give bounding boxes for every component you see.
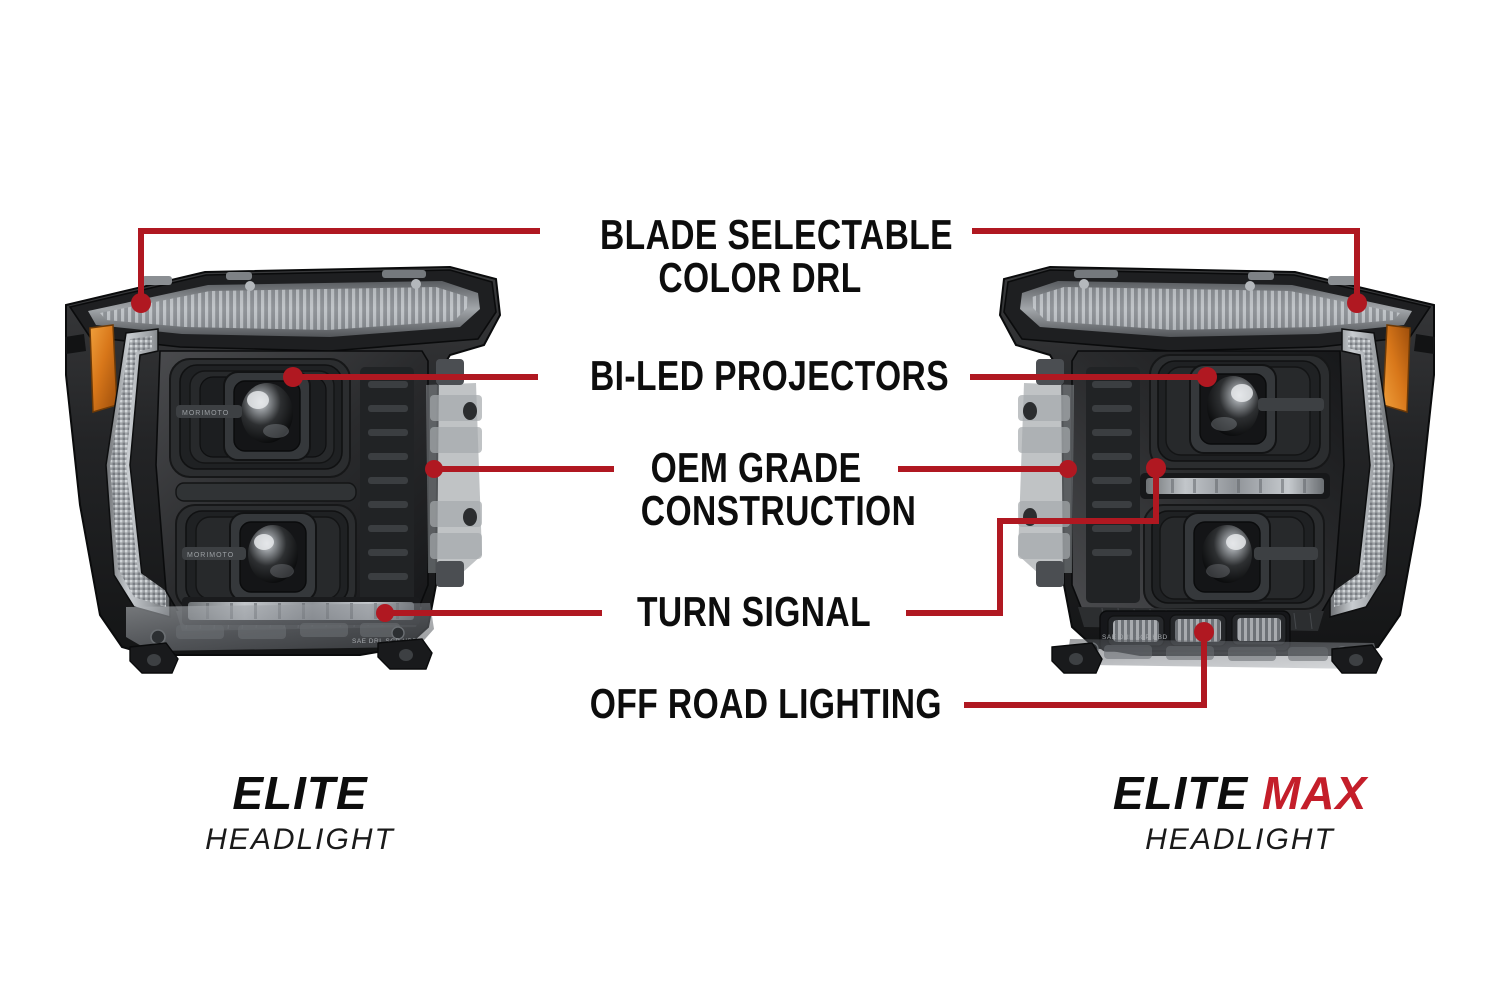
callout-blade-drl: BLADE SELECTABLE COLOR DRL [600,214,920,300]
elite-max-headlight-svg: SAE DRL SCP HBD [980,255,1470,675]
rib-panel [360,367,414,603]
elite-headlight-image: MORIMOTO MORIMOTO [30,255,520,675]
mounting-bracket-stack [1018,359,1074,587]
wing-mount-tab [226,272,252,280]
wing-mount-tab [1074,270,1118,278]
amber-side-marker [1383,325,1410,412]
svg-text:MORIMOTO: MORIMOTO [182,410,229,417]
rib-panel [1086,367,1140,603]
callout-turn-signal: TURN SIGNAL [631,591,877,634]
product-name-max-accent: MAX [1262,767,1367,819]
callout-bi-led: BI-LED PROJECTORS [590,355,926,398]
lower-projector-assembly: MORIMOTO [176,505,356,609]
wing-mount-tab [382,270,426,278]
wing-screw [245,281,255,291]
mounting-bracket-stack [426,359,482,587]
wing-screw [1245,281,1255,291]
callout-oem-grade-line1: OEM GRADE [641,447,871,490]
elite-max-headlight-image: SAE DRL SCP HBD [980,255,1470,675]
base-grommet [151,630,165,644]
wing-screw [1079,279,1089,289]
callout-off-road-line1: OFF ROAD LIGHTING [590,683,924,726]
wing-screw [411,279,421,289]
side-tab [1414,334,1435,354]
upper-projector-assembly [1150,355,1330,469]
wing-mount-tab [1248,272,1274,280]
callout-bi-led-line1: BI-LED PROJECTORS [590,355,926,398]
elite-headlight-svg: MORIMOTO MORIMOTO [30,255,520,675]
regulatory-marking: SAE DRL SCP HBD [1102,634,1168,641]
lower-projector-assembly [1144,505,1324,609]
product-name-elite-max-text: ELITE [1113,767,1248,819]
callout-turn-signal-line1: TURN SIGNAL [631,591,877,634]
product-subtitle-elite: HEADLIGHT [110,825,490,855]
product-subtitle-elite-max: HEADLIGHT [1050,825,1430,855]
side-tab [65,334,86,354]
wing-mount-tab [1328,276,1358,285]
callout-blade-drl-line2: COLOR DRL [600,257,920,300]
wing-mount-tab [142,276,172,285]
rib-lines [368,381,408,580]
product-name-elite-max: ELITE MAX [1050,770,1430,816]
callout-off-road: OFF ROAD LIGHTING [590,683,924,726]
center-divider-bar [176,483,356,501]
callout-oem-grade: OEM GRADE CONSTRUCTION [641,447,871,533]
product-name-elite: ELITE [110,770,490,816]
product-title-elite-max: ELITE MAX HEADLIGHT [1050,770,1430,855]
callout-oem-grade-line2: CONSTRUCTION [641,490,871,533]
product-title-elite: ELITE HEADLIGHT [110,770,490,855]
upper-projector-assembly: MORIMOTO [170,359,350,477]
callout-blade-drl-line1: BLADE SELECTABLE [600,214,920,257]
amber-side-marker [90,325,117,412]
svg-text:MORIMOTO: MORIMOTO [187,552,234,559]
comparison-diagram: MORIMOTO MORIMOTO [0,0,1500,1000]
product-name-elite-text: ELITE [232,767,367,819]
